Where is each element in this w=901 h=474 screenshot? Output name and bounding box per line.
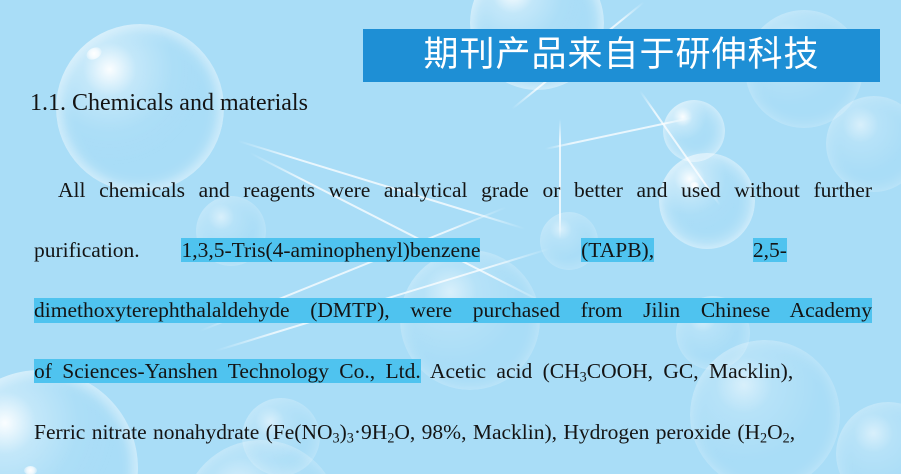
line2-highlighted-25: 2,5- xyxy=(753,238,787,262)
paragraph-line-5: Ferric nitrate nonahydrate (Fe(NO3)3·9H2… xyxy=(34,420,872,447)
paragraph-line-3: dimethoxyterephthalaldehyde (DMTP), were… xyxy=(34,298,872,323)
paragraph-line-3-text: dimethoxyterephthalaldehyde (DMTP), were… xyxy=(34,298,872,323)
line5-text-d: O, 98%, Macklin), Hydrogen peroxide (H xyxy=(394,420,760,444)
subscript-3: 3 xyxy=(580,369,587,385)
subscript-3: 3 xyxy=(333,430,340,446)
line4-highlighted-part: of Sciences-Yanshen Technology Co., Ltd. xyxy=(34,359,421,383)
line4-plain-text-a: Acetic acid (CH xyxy=(430,359,580,383)
line5-text-e: O xyxy=(767,420,783,444)
line5-text-b: ) xyxy=(340,420,347,444)
paragraph-line-1-text: All chemicals and reagents were analytic… xyxy=(34,178,872,203)
subscript-3: 3 xyxy=(347,430,354,446)
paragraph-line-4: of Sciences-Yanshen Technology Co., Ltd.… xyxy=(34,359,872,386)
paragraph-line-1: All chemicals and reagents were analytic… xyxy=(34,178,872,203)
line4-plain-text-b: COOH, GC, Macklin), xyxy=(587,359,793,383)
line2-highlighted-abbrev: (TAPB), xyxy=(581,238,654,262)
slide-canvas: 期刊产品来自于研伸科技 1.1. Chemicals and materials… xyxy=(0,0,901,474)
line5-text-a: Ferric nitrate nonahydrate (Fe(NO xyxy=(34,420,333,444)
section-heading: 1.1. Chemicals and materials xyxy=(30,90,308,117)
line5-text-c: ·9H xyxy=(354,420,387,444)
line2-highlighted-compound: 1,3,5-Tris(4-aminophenyl)benzene xyxy=(181,238,480,262)
line4-plain-part: Acetic acid (CH3COOH, GC, Macklin), xyxy=(430,359,793,383)
subscript-2: 2 xyxy=(783,430,790,446)
line2-word-purification: purification. xyxy=(34,238,140,262)
paragraph-line-2: purification. 1,3,5-Tris(4-aminophenyl)b… xyxy=(34,238,872,263)
line5-text-f: , xyxy=(790,420,795,444)
document-text-block: 1.1. Chemicals and materials All chemica… xyxy=(0,0,901,474)
